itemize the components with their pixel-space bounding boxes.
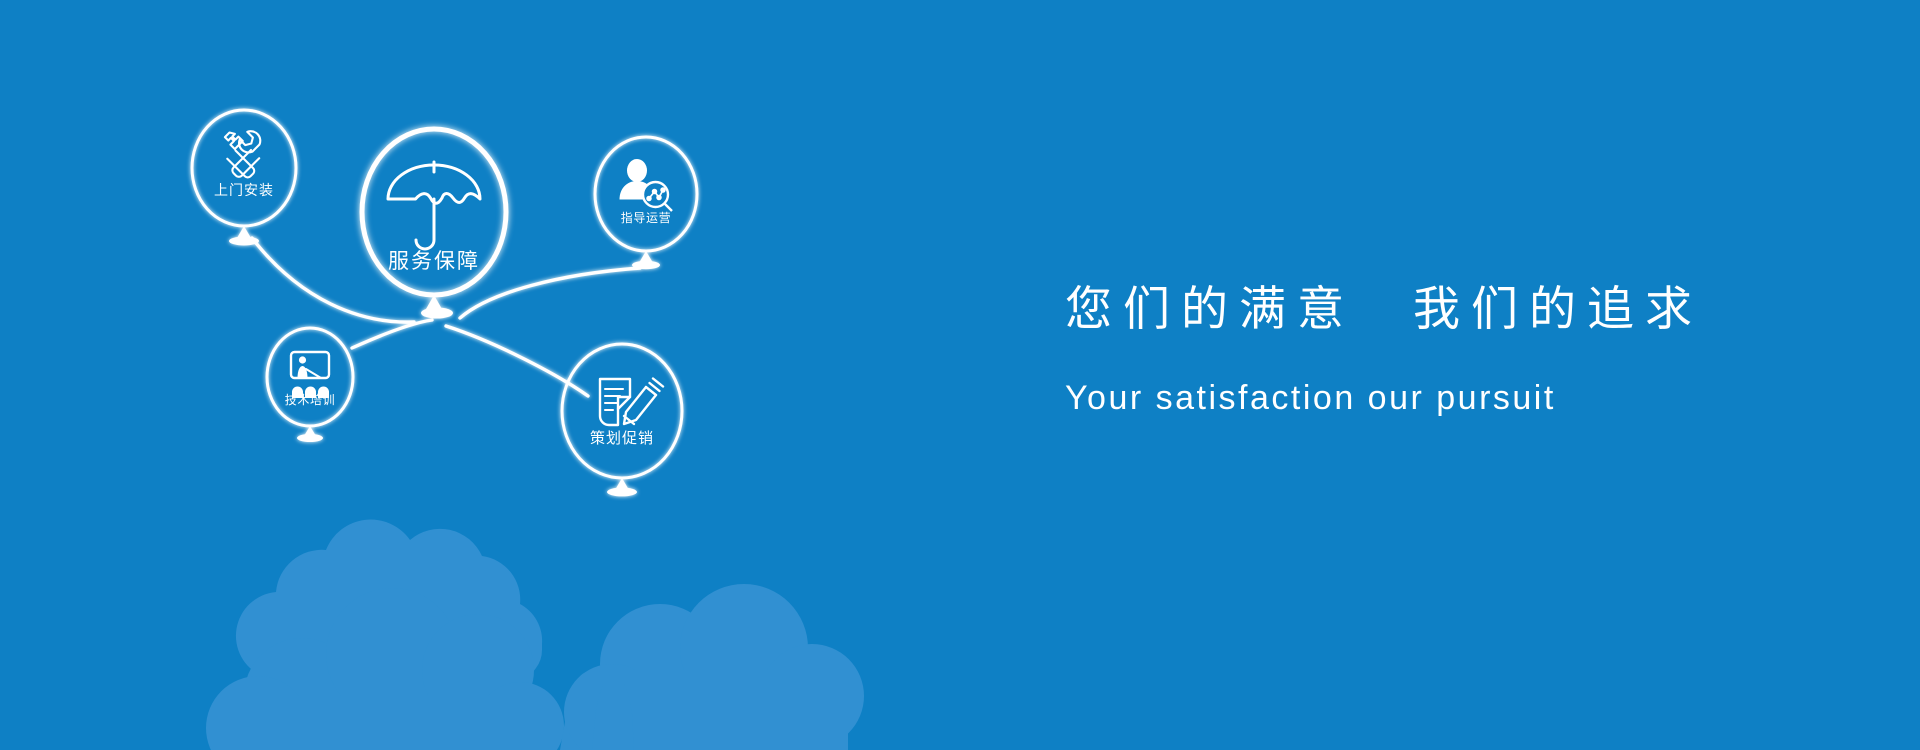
node-base — [607, 488, 637, 497]
node-ring — [562, 344, 682, 478]
document-pencil-icon — [600, 379, 663, 426]
slogan-headline: 您们的满意 我们的追求 — [1065, 280, 1825, 339]
node-base — [632, 261, 660, 269]
service-node-graph: 上门安装 — [0, 0, 1100, 750]
node-label: 技术培训 — [285, 392, 335, 407]
slogan-block: 您们的满意 我们的追求 Your satisfaction our pursui… — [1065, 280, 1825, 418]
node-ring — [192, 110, 296, 226]
node-technical-training[interactable]: 技术培训 — [267, 328, 353, 442]
node-guidance-operation[interactable]: 指导运营 — [595, 137, 697, 269]
node-base — [229, 237, 259, 246]
node-label: 上门安装 — [214, 182, 274, 198]
node-label: 指导运营 — [621, 210, 671, 225]
node-label: 服务保障 — [388, 250, 480, 273]
node-planning-promotion[interactable]: 策划促销 — [562, 344, 682, 496]
node-stem — [237, 226, 251, 238]
user-analytics-icon — [620, 159, 673, 211]
umbrella-icon — [388, 162, 480, 249]
slogan-subline: Your satisfaction our pursuit — [1065, 379, 1825, 418]
classroom-training-icon — [291, 352, 329, 398]
node-base — [297, 434, 323, 442]
node-label: 策划促销 — [590, 430, 654, 447]
node-stem — [640, 251, 653, 262]
graph-hub — [421, 308, 453, 319]
hammer-wrench-icon — [225, 131, 260, 177]
connector-guidance — [460, 268, 640, 318]
node-door-to-door-installation[interactable]: 上门安装 — [192, 110, 296, 246]
connector-training — [352, 320, 432, 348]
service-banner: 上门安装 — [0, 0, 1920, 750]
node-service-guarantee[interactable]: 服务保障 — [362, 129, 506, 309]
